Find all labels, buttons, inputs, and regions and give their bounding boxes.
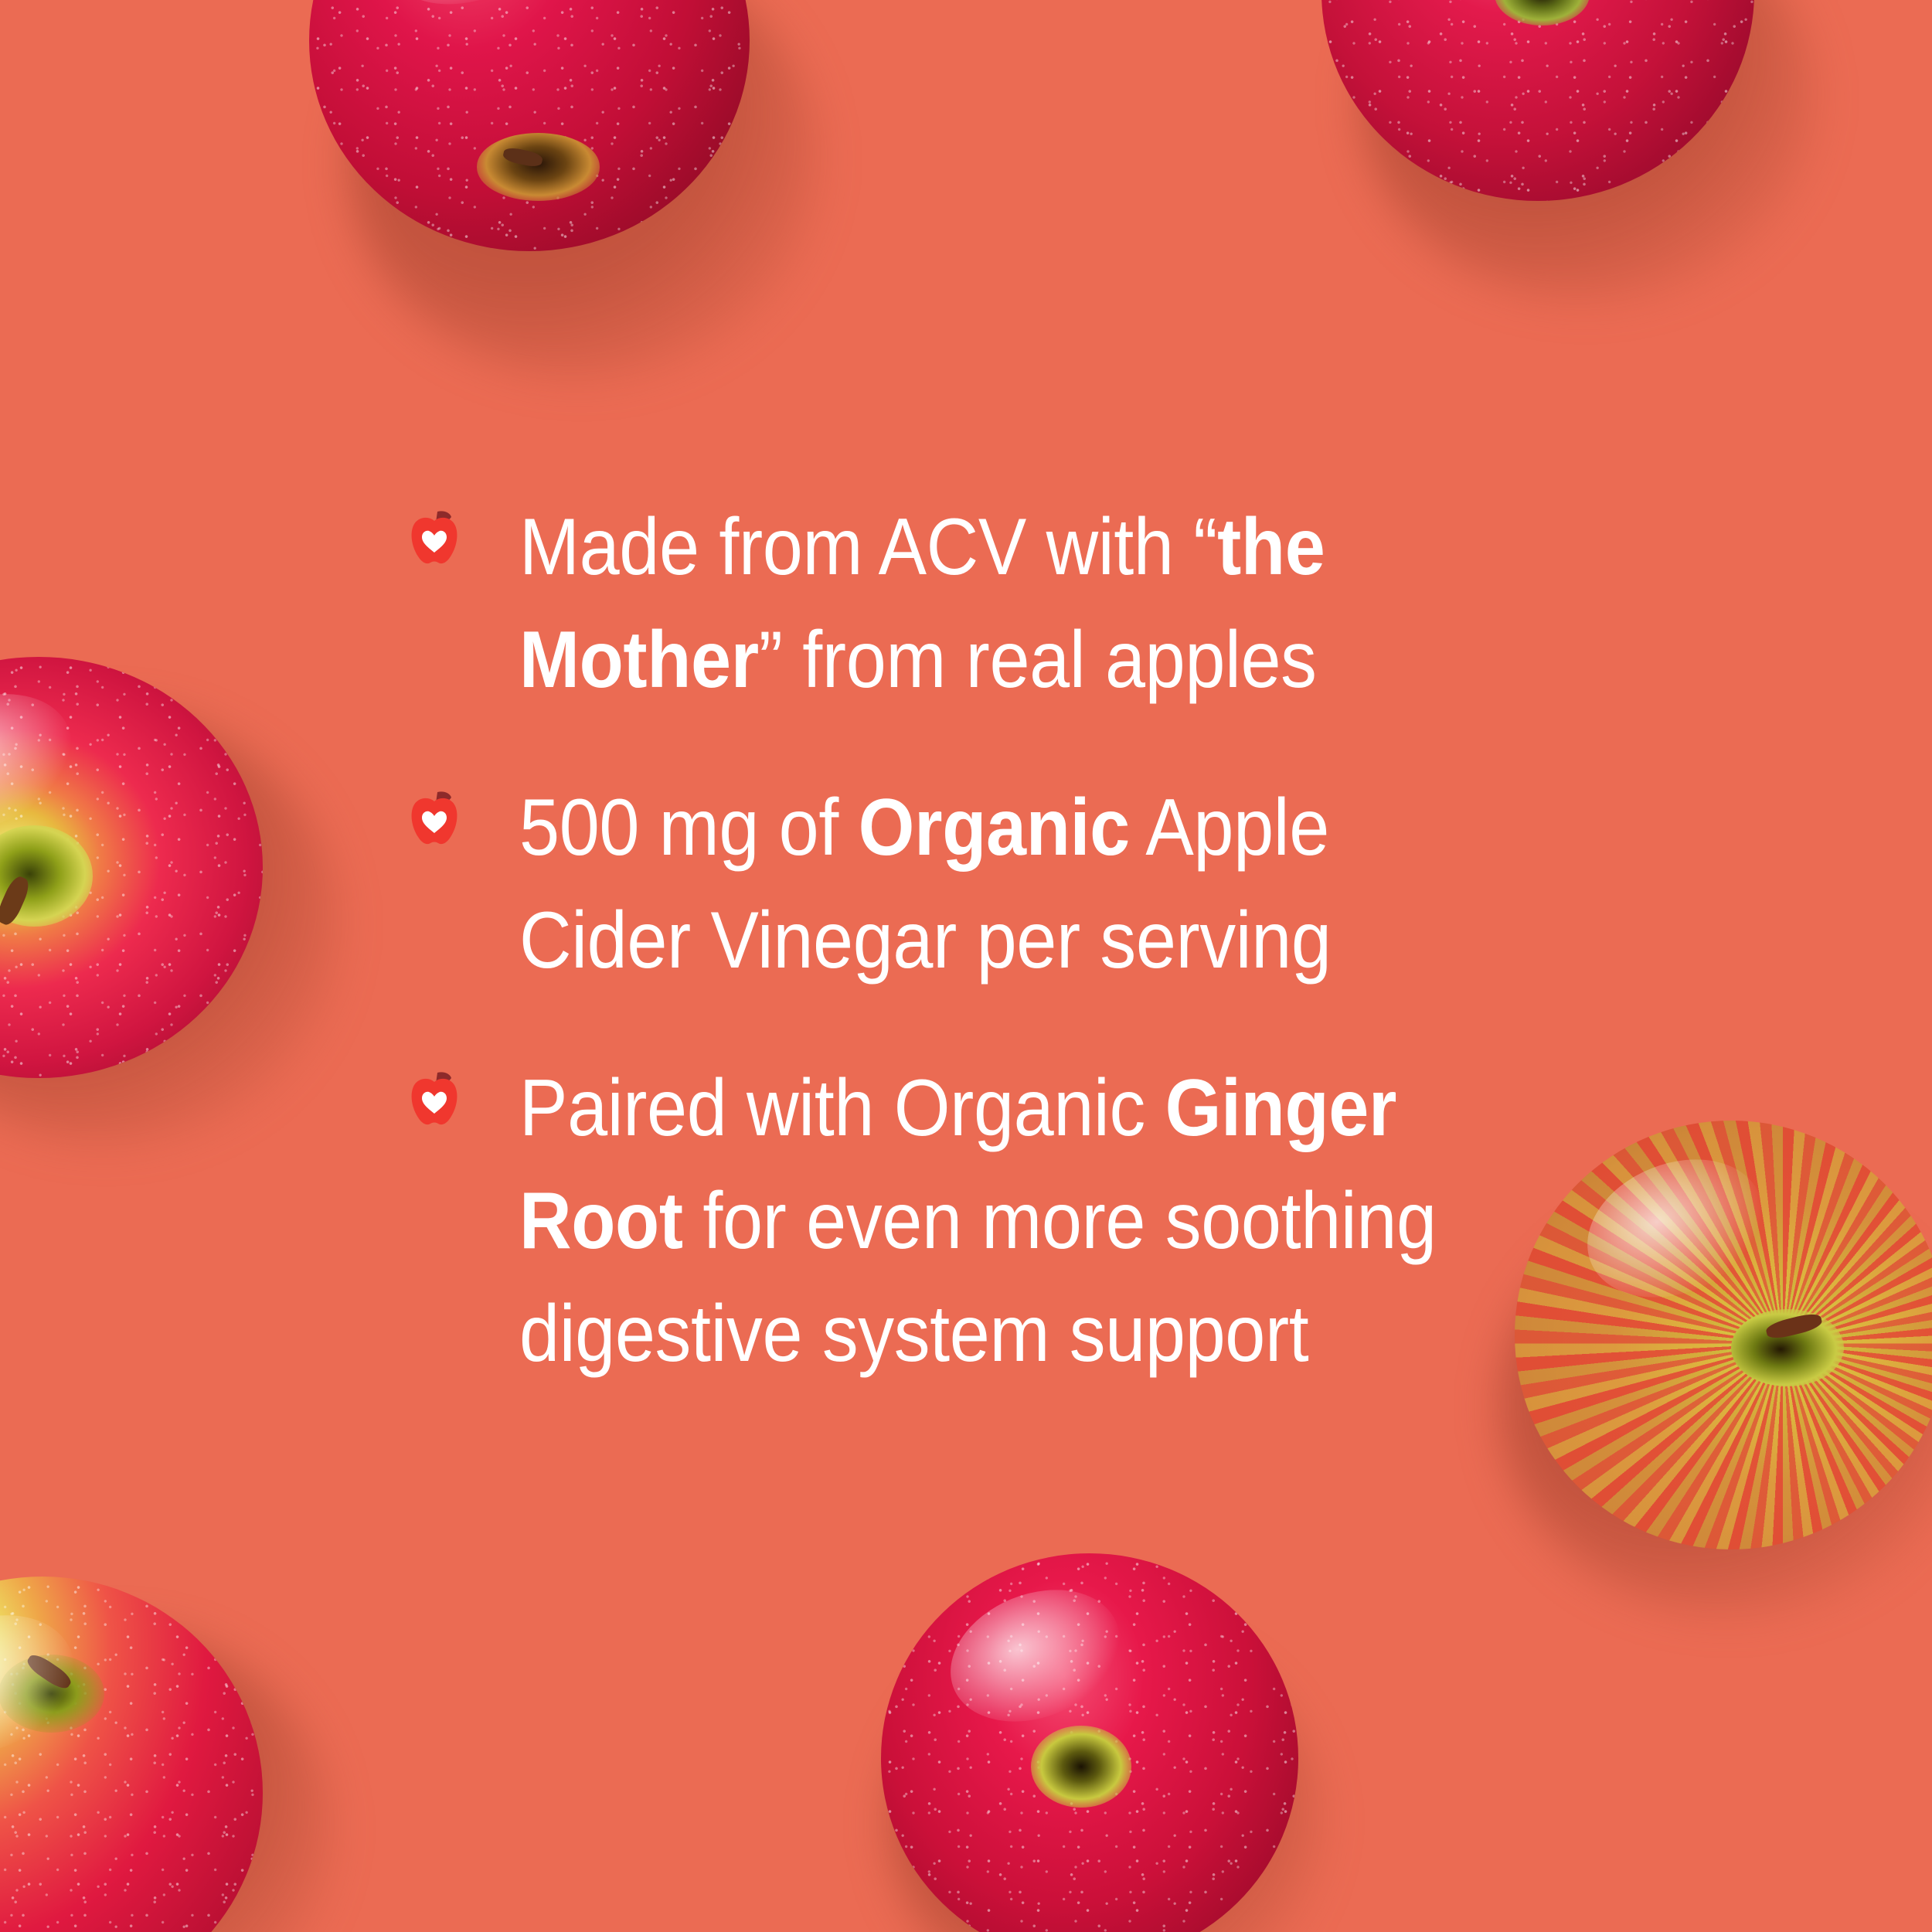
benefit-2-segment-bold: Organic (859, 783, 1130, 872)
apple-calyx (1031, 1726, 1131, 1808)
benefit-bullet-list: Made from ACV with “the Mother” from rea… (410, 492, 1546, 1390)
apple-photo-bottom-left (0, 1561, 301, 1932)
benefit-2-segment-plain-a: 500 mg of (519, 783, 859, 872)
apple-photo-top-left (294, 0, 788, 325)
benefit-bullet-2: 500 mg of Organic Apple Cider Vinegar pe… (410, 772, 1546, 997)
apple-body (1515, 1121, 1932, 1549)
apple-calyx (0, 1655, 104, 1733)
benefit-1-segment-plain-b: ” from real apples (759, 615, 1317, 705)
apple-stem (24, 1651, 73, 1692)
apple-photo-right (1492, 1113, 1932, 1607)
apple-body (881, 1553, 1298, 1932)
benefit-text-1: Made from ACV with “the Mother” from rea… (519, 492, 1443, 716)
benefit-3-segment-plain-a: Paired with Organic (519, 1063, 1165, 1153)
apple-photo-bottom-center (866, 1538, 1329, 1932)
apple-heart-icon (410, 509, 459, 566)
apple-heart-icon (410, 789, 459, 846)
apple-speckles (0, 1577, 263, 1932)
product-benefits-graphic: Made from ACV with “the Mother” from rea… (0, 0, 1932, 1932)
apple-body (0, 1577, 263, 1932)
apple-heart-icon (410, 1070, 459, 1127)
benefit-bullet-3: Paired with Organic Ginger Root for even… (410, 1053, 1546, 1390)
apple-photo-top-right (1306, 0, 1785, 263)
benefit-bullet-1: Made from ACV with “the Mother” from rea… (410, 492, 1546, 716)
benefit-text-3: Paired with Organic Ginger Root for even… (519, 1053, 1443, 1390)
apple-photo-left (0, 649, 301, 1144)
benefit-1-segment-plain-a: Made from ACV with “ (519, 502, 1217, 592)
apple-calyx (477, 133, 600, 200)
benefit-text-2: 500 mg of Organic Apple Cider Vinegar pe… (519, 772, 1443, 997)
